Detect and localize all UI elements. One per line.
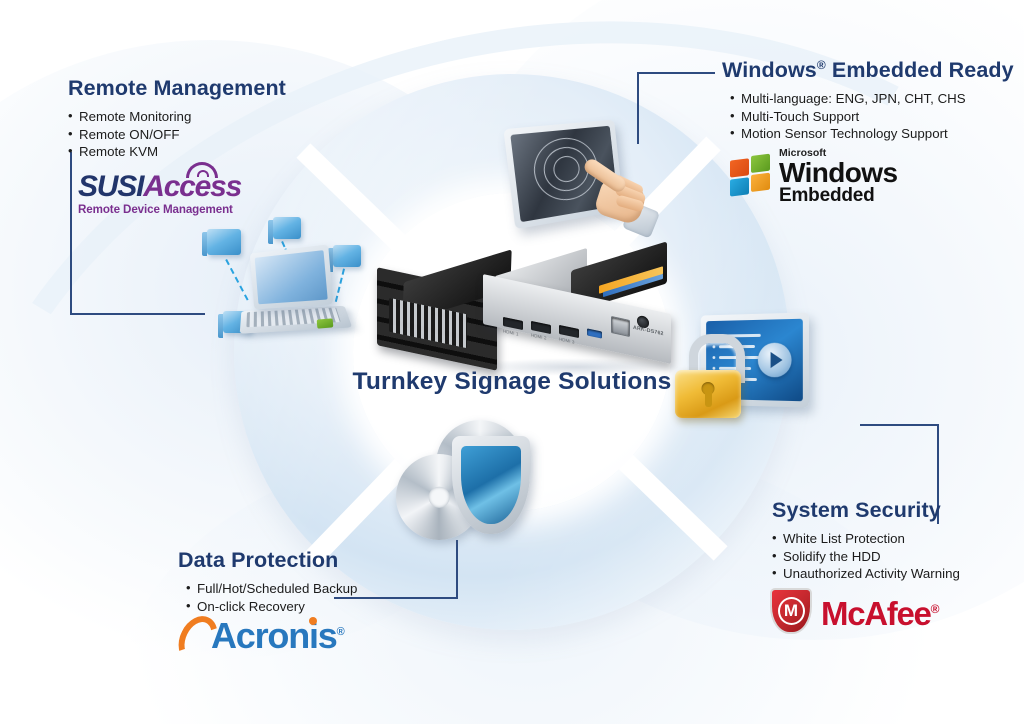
remote-management-title: Remote Management (68, 76, 286, 101)
acronis-word-text: Acronis (211, 615, 337, 656)
mcafee-m-mark: M (778, 597, 805, 625)
connector-remote-management (70, 313, 205, 315)
network-link (335, 269, 345, 302)
windows-embedded-logo: Microsoft Windows Embedded (730, 148, 897, 206)
list-item: Full/Hot/Scheduled Backup (186, 580, 357, 598)
embedded-wordmark: Embedded (779, 186, 897, 206)
acronis-dot-icon (309, 617, 317, 625)
center-title: Turnkey Signage Solutions (0, 368, 1024, 396)
windows-embedded-bullets: Multi-language: ENG, JPN, CHT, CHS Multi… (730, 90, 1014, 143)
infographic-canvas: HDMI 1 HDMI 2 HDMI 3 ARK-DS762 Turnkey S… (0, 0, 1024, 724)
windows-embedded-title-rest: Embedded Ready (826, 58, 1014, 82)
mcafee-word-text: McAfee (821, 595, 931, 632)
mcafee-wordmark: McAfee® (821, 593, 938, 630)
hand-pointing-icon (582, 162, 656, 236)
connector-remote-management (70, 152, 72, 314)
remote-management-bullets: Remote Monitoring Remote ON/OFF Remote K… (68, 108, 286, 161)
list-item: Multi-language: ENG, JPN, CHT, CHS (730, 90, 1014, 108)
list-item: Motion Sensor Technology Support (730, 125, 1014, 143)
connector-system-security (860, 424, 939, 426)
backup-disc-shield-illustration (390, 414, 560, 549)
windows-flag-icon (730, 155, 772, 198)
susiaccess-tagline: Remote Device Management (78, 203, 241, 216)
list-item: Remote ON/OFF (68, 126, 286, 144)
susiaccess-logo: SUSIAccess Remote Device Management (78, 172, 241, 216)
ark-signage-player-device: HDMI 1 HDMI 2 HDMI 3 ARK-DS762 (375, 262, 675, 374)
laptop-network-illustration (205, 215, 380, 365)
block-windows-embedded: Windows® Embedded Ready Multi-language: … (722, 58, 1014, 143)
network-node-icon (333, 245, 361, 267)
mcafee-logo: M McAfee® (770, 588, 938, 634)
data-protection-title: Data Protection (178, 548, 357, 573)
acronis-swoosh-icon (178, 614, 205, 654)
network-node-icon (273, 217, 301, 239)
data-protection-bullets: Full/Hot/Scheduled Backup On-click Recov… (186, 580, 357, 615)
windows-wordmark: Windows (779, 159, 897, 186)
acronis-wordmark: Acronis® (211, 614, 344, 654)
list-item: Remote Monitoring (68, 108, 286, 126)
connector-windows-embedded (637, 72, 715, 74)
mcafee-shield-icon: M (770, 588, 812, 634)
list-item: Solidify the HDD (772, 548, 960, 566)
list-item: Remote KVM (68, 143, 286, 161)
system-security-bullets: White List Protection Solidify the HDD U… (772, 530, 960, 583)
block-remote-management: Remote Management Remote Monitoring Remo… (68, 76, 286, 161)
laptop-touchpad (317, 318, 334, 328)
system-security-title: System Security (772, 498, 960, 523)
network-link (225, 259, 248, 301)
block-data-protection: Data Protection Full/Hot/Scheduled Backu… (178, 548, 357, 615)
list-item: White List Protection (772, 530, 960, 548)
block-system-security: System Security White List Protection So… (772, 498, 960, 583)
list-item: Multi-Touch Support (730, 108, 1014, 126)
registered-mark: ® (337, 626, 344, 638)
list-item: On-click Recovery (186, 598, 357, 616)
susiaccess-word-susi: SUSI (78, 170, 143, 203)
registered-mark: ® (817, 58, 826, 72)
acronis-logo: Acronis® (178, 614, 344, 654)
laptop-screen (250, 244, 333, 309)
network-node-icon (207, 229, 241, 255)
windows-embedded-title: Windows® Embedded Ready (722, 58, 1014, 83)
windows-embedded-title-main: Windows (722, 58, 817, 82)
list-item: Unauthorized Activity Warning (772, 565, 960, 583)
touchscreen-illustration (500, 118, 670, 238)
registered-mark: ® (931, 602, 939, 616)
